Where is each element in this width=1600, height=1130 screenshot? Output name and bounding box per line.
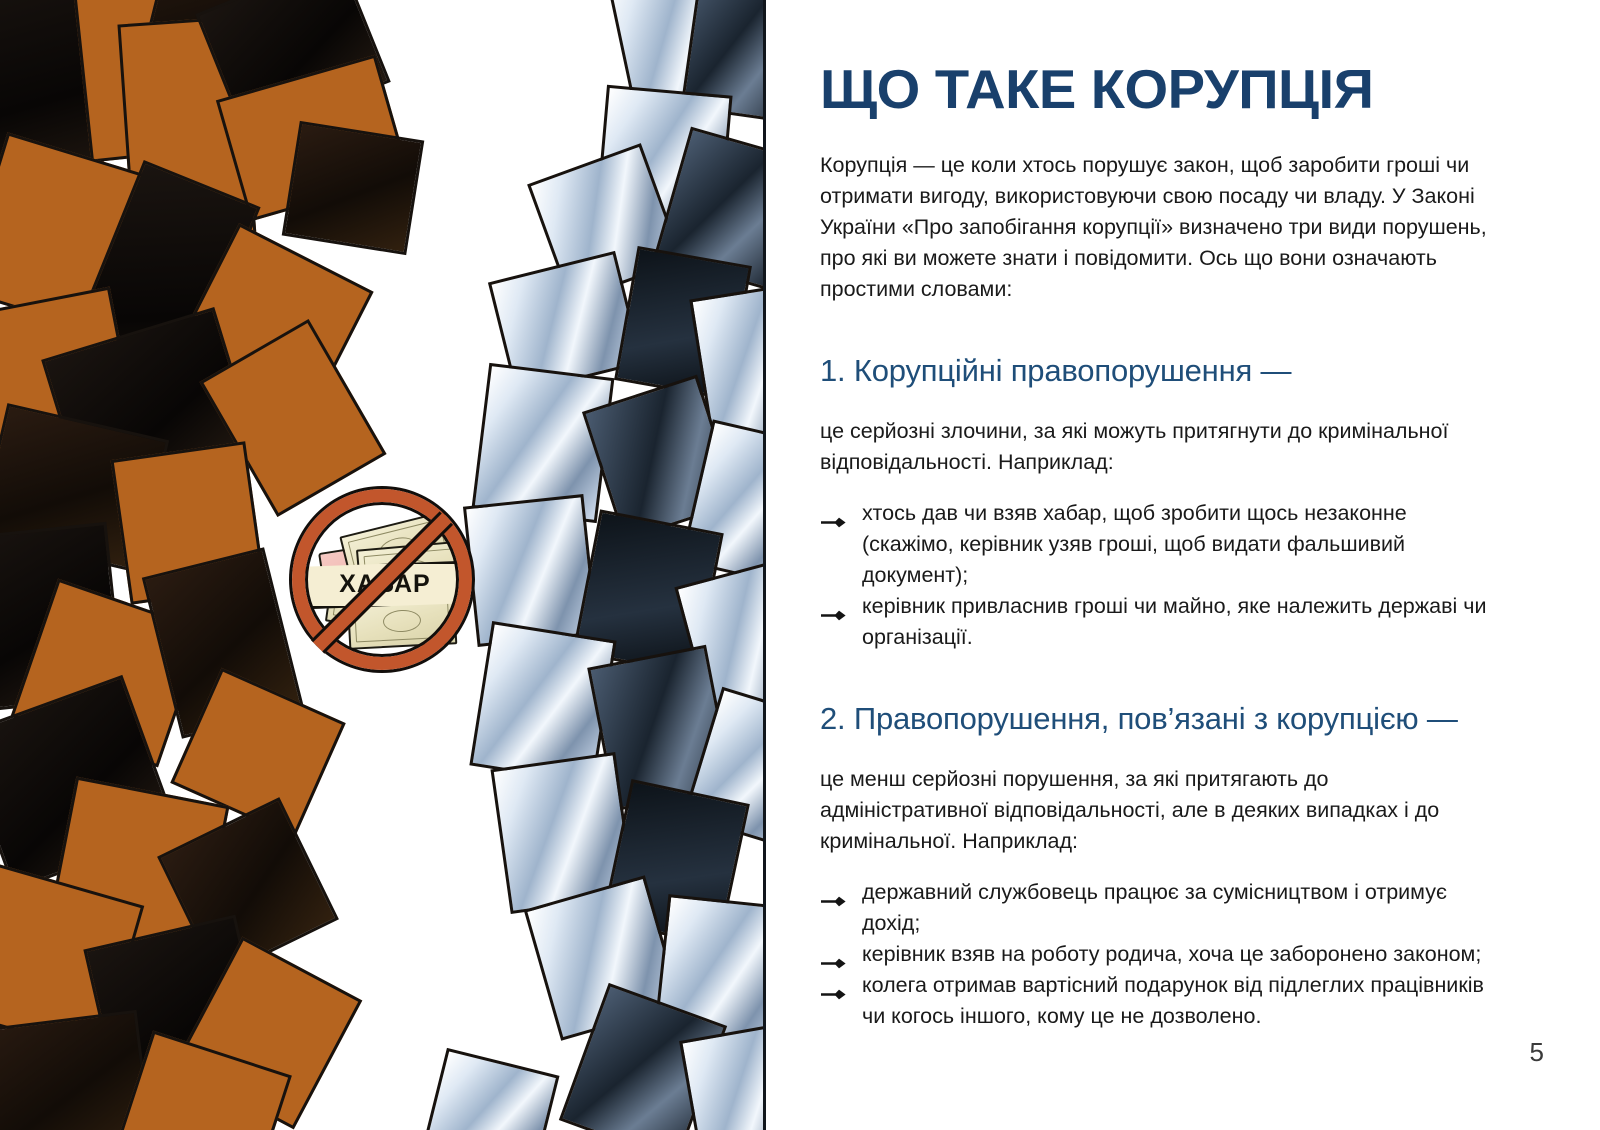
- page-title: ЩО ТАКЕ КОРУПЦІЯ: [820, 62, 1373, 117]
- list-item: колега отримав вартісний подарунок від п…: [820, 970, 1494, 1032]
- section-2-list: державний службовець працює за сумісницт…: [820, 877, 1494, 1032]
- arrow-bullet-icon: [820, 600, 850, 613]
- arrow-bullet-icon: [820, 979, 850, 992]
- list-item-text: державний службовець працює за сумісницт…: [862, 880, 1447, 935]
- list-item-text: керівник взяв на роботу родича, хоча це …: [862, 942, 1481, 966]
- intro-paragraph: Корупція — це коли хтось порушує закон, …: [820, 150, 1494, 305]
- content-column: ЩО ТАКЕ КОРУПЦІЯ Корупція — це коли хтос…: [766, 0, 1600, 1130]
- list-item-text: керівник привласнив гроші чи майно, яке …: [862, 594, 1486, 649]
- bribe-prohibition-sign: ХАБАР: [292, 489, 472, 670]
- document-page: ХАБАР ЩО ТАКЕ КОРУПЦІЯ Корупція — це кол…: [0, 0, 1600, 1130]
- list-item: хтось дав чи взяв хабар, щоб зробити щос…: [820, 498, 1494, 591]
- article-body: Корупція — це коли хтось порушує закон, …: [820, 150, 1494, 1032]
- section-heading-1: 1. Корупційні правопорушення —: [820, 350, 1494, 392]
- illustration-panel: ХАБАР: [0, 0, 766, 1130]
- section-2-intro: це менш серйозні порушення, за які притя…: [820, 764, 1494, 857]
- arrow-bullet-icon: [820, 507, 850, 520]
- list-item: державний службовець працює за сумісницт…: [820, 877, 1494, 939]
- section-heading-2: 2. Правопорушення, пов’язані з корупцією…: [820, 698, 1494, 740]
- list-item: керівник взяв на роботу родича, хоча це …: [820, 939, 1494, 970]
- arrow-bullet-icon: [820, 886, 850, 899]
- rust-shard: [282, 121, 425, 255]
- section-1-list: хтось дав чи взяв хабар, щоб зробити щос…: [820, 498, 1494, 653]
- section-1-intro: це серйозні злочини, за які можуть притя…: [820, 416, 1494, 478]
- chrome-shard: [416, 1048, 559, 1130]
- list-item: керівник привласнив гроші чи майно, яке …: [820, 591, 1494, 653]
- arrow-bullet-icon: [820, 948, 850, 961]
- list-item-text: хтось дав чи взяв хабар, щоб зробити щос…: [862, 501, 1407, 587]
- page-number: 5: [1530, 1037, 1544, 1068]
- list-item-text: колега отримав вартісний подарунок від п…: [862, 973, 1484, 1028]
